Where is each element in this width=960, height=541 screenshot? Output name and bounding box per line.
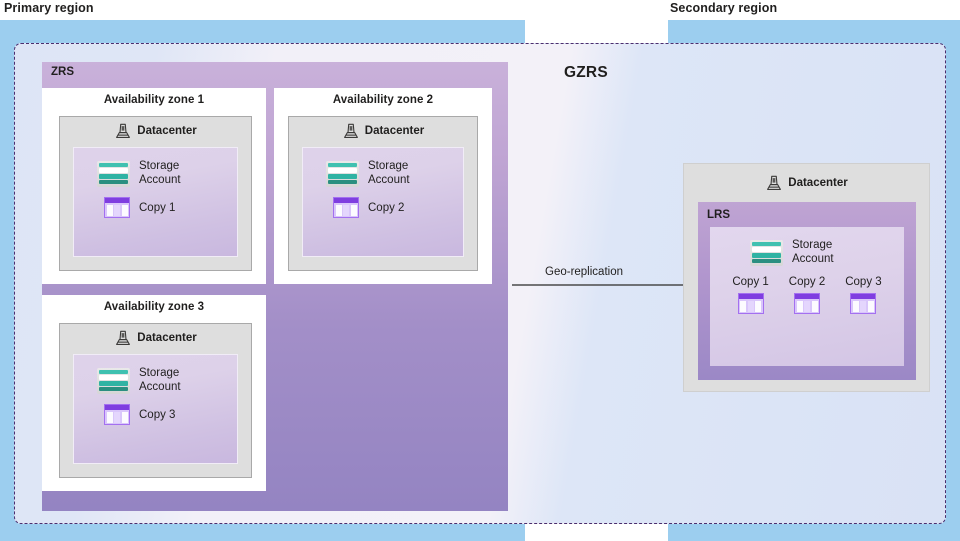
gzrs-title: GZRS bbox=[564, 64, 608, 82]
storage-account-icon bbox=[97, 161, 130, 187]
copy-icon bbox=[333, 197, 359, 218]
availability-zone-1-title: Availability zone 1 bbox=[42, 88, 266, 106]
lrs-container: LRS Storage Account Cop bbox=[698, 202, 916, 380]
datacenter-icon bbox=[342, 122, 360, 140]
copy-icon bbox=[104, 404, 130, 425]
geo-replication-arrow-icon bbox=[512, 278, 708, 292]
storage-account-icon bbox=[750, 240, 783, 266]
copy-label: Copy 2 bbox=[368, 202, 404, 214]
copy-row: Copy 1 bbox=[74, 187, 237, 218]
storage-panel-zone-2: Storage Account Copy 2 bbox=[302, 147, 464, 257]
datacenter-header: Datacenter bbox=[289, 117, 477, 145]
copy-row: Copy 3 bbox=[74, 394, 237, 425]
availability-zone-1: Availability zone 1 Datacenter bbox=[42, 88, 266, 284]
copy-label: Copy 3 bbox=[139, 409, 175, 421]
primary-region-label: Primary region bbox=[4, 1, 94, 15]
storage-account-row: Storage Account bbox=[74, 148, 237, 187]
datacenter-label: Datacenter bbox=[788, 177, 847, 189]
storage-account-label: Storage Account bbox=[368, 160, 410, 187]
copy-label: Copy 3 bbox=[845, 276, 881, 288]
datacenter-icon bbox=[114, 329, 132, 347]
secondary-datacenter-box: Datacenter LRS Storage Account bbox=[683, 163, 930, 392]
storage-account-icon bbox=[97, 368, 130, 394]
availability-zone-2: Availability zone 2 Datacenter bbox=[274, 88, 492, 284]
secondary-copy-item: Copy 1 bbox=[732, 276, 768, 314]
datacenter-label: Datacenter bbox=[137, 125, 196, 137]
datacenter-box-zone-3: Datacenter Storage Account bbox=[59, 323, 252, 478]
diagram-canvas: Primary region Secondary region GZRS ZRS… bbox=[0, 0, 960, 541]
storage-panel-zone-1: Storage Account Copy 1 bbox=[73, 147, 238, 257]
copy-row: Copy 2 bbox=[303, 187, 463, 218]
secondary-copies-row: Copy 1 Copy 2 Copy 3 bbox=[710, 266, 904, 314]
storage-account-row: Storage Account bbox=[74, 355, 237, 394]
storage-account-icon bbox=[326, 161, 359, 187]
datacenter-header: Datacenter bbox=[684, 164, 929, 202]
availability-zone-2-title: Availability zone 2 bbox=[274, 88, 492, 106]
copy-label: Copy 1 bbox=[732, 276, 768, 288]
lrs-storage-panel: Storage Account Copy 1 Copy 2 bbox=[710, 227, 904, 366]
copy-icon bbox=[794, 293, 820, 314]
secondary-region-label: Secondary region bbox=[670, 1, 777, 15]
datacenter-box-zone-2: Datacenter Storage Account bbox=[288, 116, 478, 271]
storage-panel-zone-3: Storage Account Copy 3 bbox=[73, 354, 238, 464]
copy-label: Copy 1 bbox=[139, 202, 175, 214]
storage-account-row: Storage Account bbox=[303, 148, 463, 187]
availability-zone-3-title: Availability zone 3 bbox=[42, 295, 266, 313]
datacenter-icon bbox=[765, 174, 783, 192]
storage-account-row: Storage Account bbox=[710, 227, 904, 266]
datacenter-icon bbox=[114, 122, 132, 140]
copy-icon bbox=[850, 293, 876, 314]
datacenter-label: Datacenter bbox=[137, 332, 196, 344]
availability-zone-3: Availability zone 3 Datacenter bbox=[42, 295, 266, 491]
secondary-copy-item: Copy 3 bbox=[845, 276, 881, 314]
datacenter-header: Datacenter bbox=[60, 117, 251, 145]
storage-account-label: Storage Account bbox=[139, 367, 181, 394]
datacenter-label: Datacenter bbox=[365, 125, 424, 137]
copy-icon bbox=[738, 293, 764, 314]
storage-account-label: Storage Account bbox=[139, 160, 181, 187]
datacenter-header: Datacenter bbox=[60, 324, 251, 352]
storage-account-label: Storage Account bbox=[792, 239, 834, 266]
datacenter-box-zone-1: Datacenter Storage Account bbox=[59, 116, 252, 271]
copy-icon bbox=[104, 197, 130, 218]
zrs-title: ZRS bbox=[51, 66, 74, 78]
copy-label: Copy 2 bbox=[789, 276, 825, 288]
geo-replication-label: Geo-replication bbox=[545, 266, 623, 278]
secondary-copy-item: Copy 2 bbox=[789, 276, 825, 314]
lrs-title: LRS bbox=[707, 209, 730, 221]
